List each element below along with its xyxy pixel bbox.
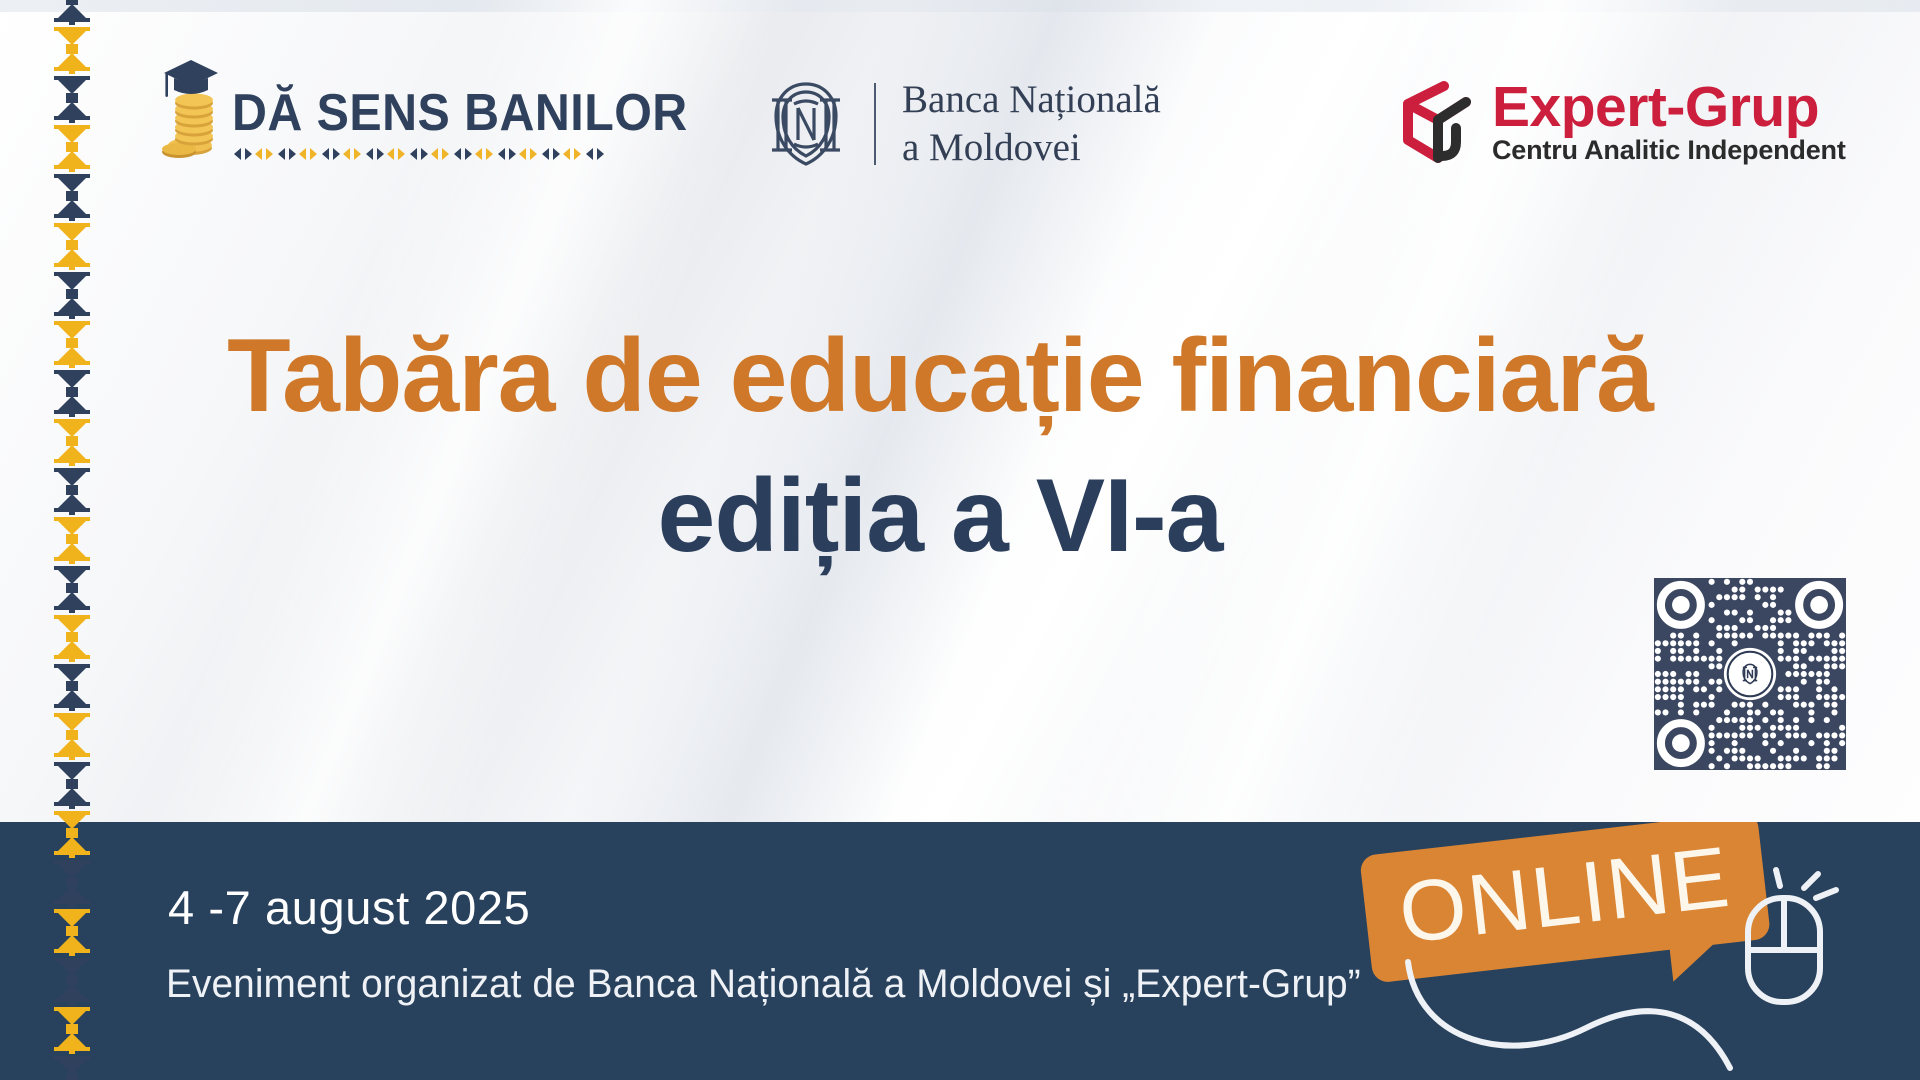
- embroidery-motif: [46, 441, 98, 490]
- embroidery-motif: [46, 637, 98, 686]
- embroidery-motif: [46, 784, 98, 833]
- footer-bar: 4 -7 august 2025 Eveniment organizat de …: [0, 822, 1920, 1080]
- embroidery-motif: [46, 294, 98, 343]
- embroidery-motif: [46, 686, 98, 735]
- title-line-1: Tabăra de educație financiară: [160, 320, 1720, 432]
- poster-title: Tabăra de educație financiară ediția a V…: [160, 320, 1720, 575]
- bnm-wordmark: Banca Națională a Moldovei: [902, 76, 1161, 173]
- expert-grup-hexagon-icon: [1388, 76, 1480, 168]
- embroidery-motif: [46, 882, 98, 931]
- graduation-cap-coins-icon: [160, 52, 222, 162]
- embroidery-motif: [46, 196, 98, 245]
- qr-code[interactable]: [1654, 578, 1846, 770]
- expert-grup-logo: Expert-Grup Centru Analitic Independent: [1388, 76, 1846, 168]
- bnm-line-1: Banca Națională: [902, 76, 1161, 124]
- event-date: 4 -7 august 2025: [168, 880, 530, 935]
- embroidery-motif: [46, 0, 98, 49]
- computer-mouse-icon: [1718, 858, 1868, 1048]
- embroidery-motif: [46, 833, 98, 882]
- expert-grup-title: Expert-Grup: [1492, 80, 1846, 135]
- logo-row: DĂ SENS BANILOR: [0, 28, 1920, 168]
- embroidery-motif: [46, 980, 98, 1029]
- embroidery-motif: [46, 1029, 98, 1078]
- embroidery-motif: [46, 392, 98, 441]
- bnm-divider: [874, 83, 876, 165]
- embroidery-motif: [46, 490, 98, 539]
- embroidery-motif: [46, 735, 98, 784]
- embroidery-motif: [46, 147, 98, 196]
- event-organizer: Eveniment organizat de Banca Națională a…: [166, 962, 1361, 1007]
- title-line-2: ediția a VI-a: [160, 458, 1720, 574]
- bnm-monogram-icon: [758, 78, 854, 170]
- coin-divider-ornament: [232, 146, 610, 162]
- da-sens-banilor-logo: DĂ SENS BANILOR: [160, 52, 722, 162]
- banca-nationala-a-moldovei-logo: Banca Națională a Moldovei: [758, 76, 1161, 173]
- embroidery-motif: [46, 931, 98, 980]
- embroidery-motif: [46, 245, 98, 294]
- da-sens-banilor-wordmark: DĂ SENS BANILOR: [232, 87, 688, 139]
- top-strip: [0, 0, 1920, 12]
- poster: DĂ SENS BANILOR: [0, 0, 1920, 1080]
- embroidery-motif: [46, 539, 98, 588]
- expert-grup-subtitle: Centru Analitic Independent: [1492, 137, 1846, 164]
- embroidery-motif: [46, 49, 98, 98]
- bnm-line-2: a Moldovei: [902, 124, 1161, 172]
- embroidery-border: [44, 0, 100, 1080]
- embroidery-motif: [46, 98, 98, 147]
- embroidery-motif: [46, 588, 98, 637]
- embroidery-motif: [46, 343, 98, 392]
